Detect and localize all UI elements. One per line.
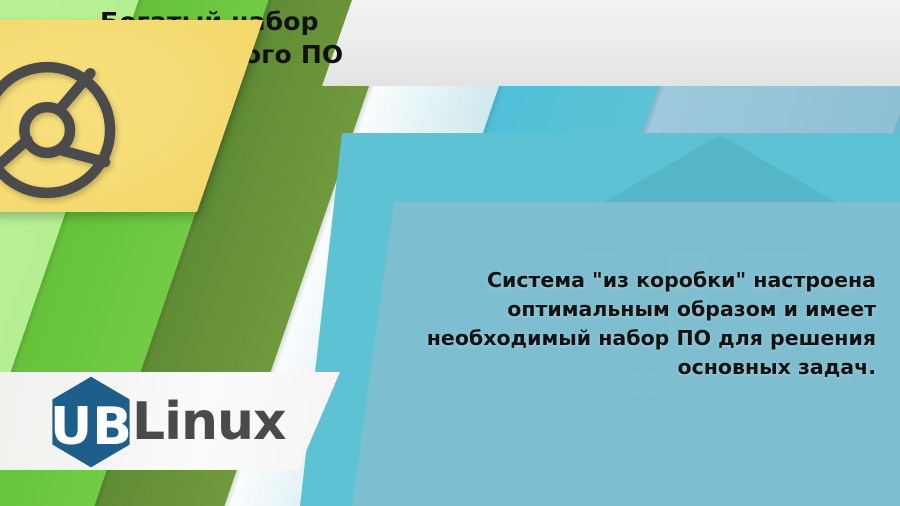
aperture-icon [0,56,121,204]
body-line-4: основных задач. [416,353,876,382]
body-text: Система "из коробки" настроена оптимальн… [416,266,876,382]
brand-logo: UB Linux [48,380,286,464]
brand-wordmark: Linux [132,396,286,448]
body-line-2: оптимальным образом и имеет [416,295,876,324]
ub-mark-text: UB [50,397,132,457]
body-line-1: Система "из коробки" настроена [416,266,876,295]
slide-canvas: UB Система "из коробки" настроена оптима… [0,0,900,506]
ub-hexagon-icon: UB [48,375,134,469]
body-line-3: необходимый набор ПО для решения [416,324,876,353]
